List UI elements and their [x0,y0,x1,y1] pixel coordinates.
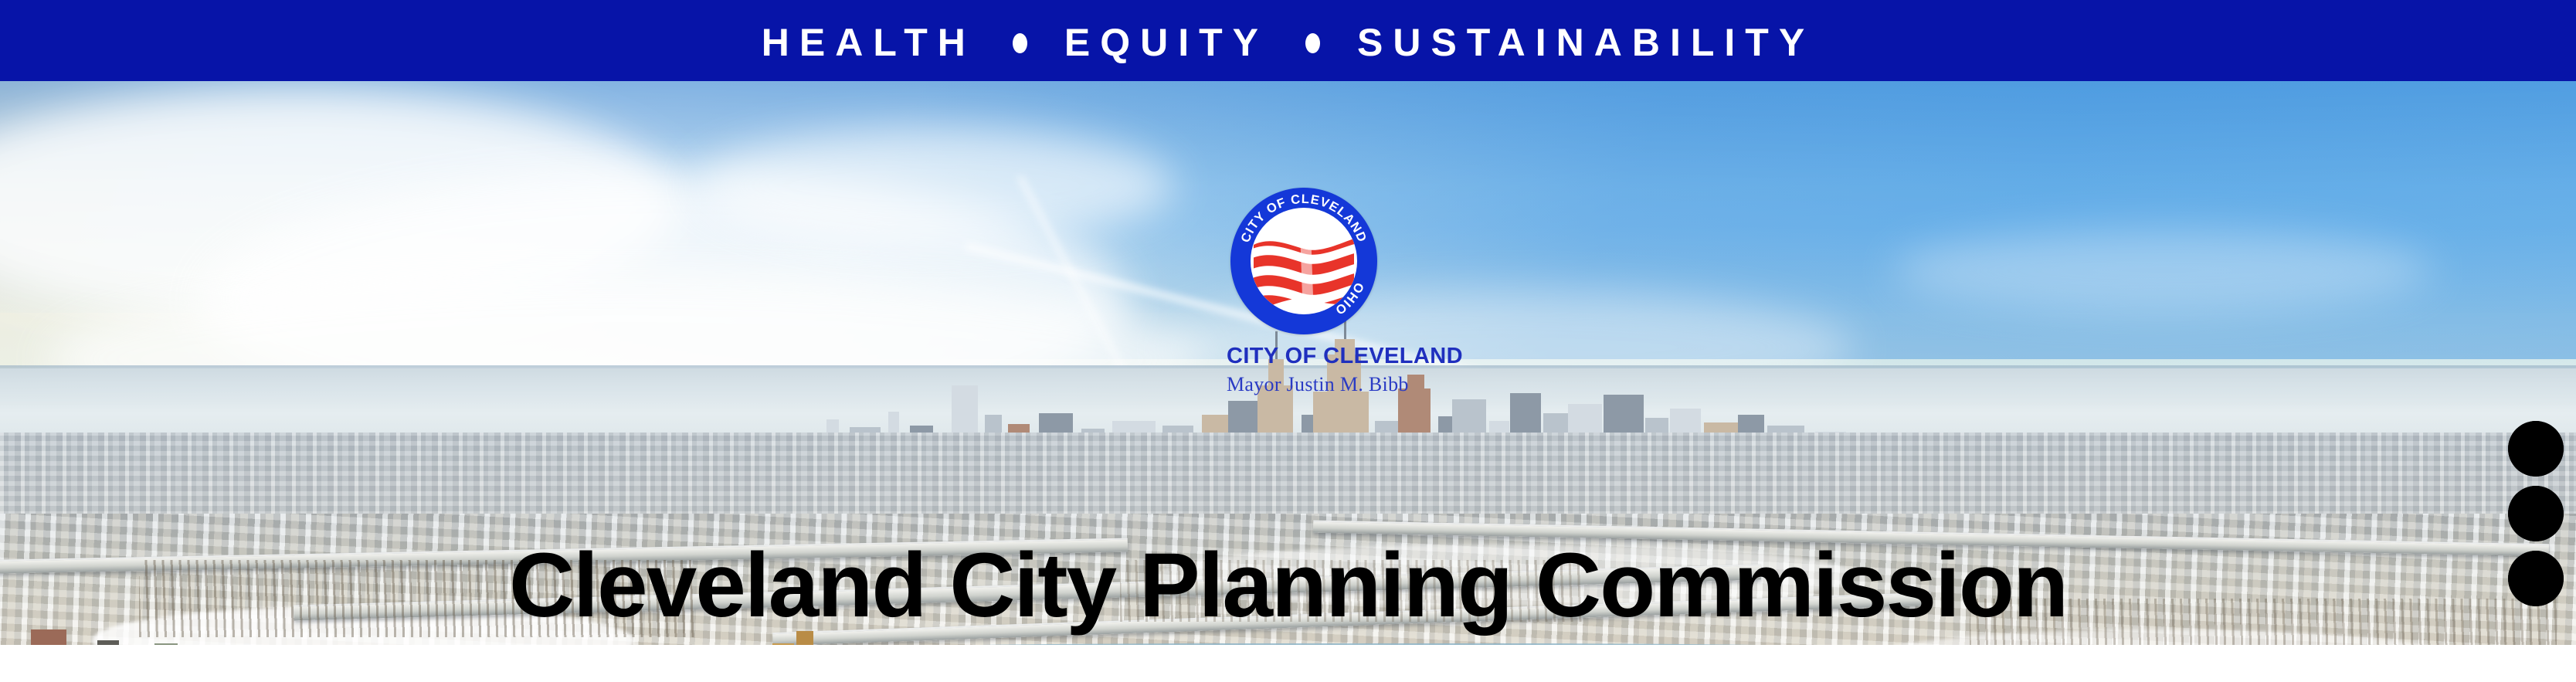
tagline-word-sustainability: SUSTAINABILITY [1352,23,1819,62]
instagram-link[interactable] [2508,486,2564,541]
tagline-word-health: HEALTH [757,23,980,62]
city-of-cleveland-seal-icon: CITY OF CLEVELAND OHIO [1230,188,1377,334]
youtube-icon [2508,421,2564,477]
tagline-word-equity: EQUITY [1060,23,1273,62]
tagline-banner: HEALTH EQUITY SUSTAINABILITY [0,0,2576,81]
footer-strip [0,645,2576,682]
bullet-dot-icon [1013,33,1027,53]
tagline-inner: HEALTH EQUITY SUSTAINABILITY [757,23,1819,62]
bullet-dot-icon [1305,33,1320,53]
facebook-icon [2508,551,2564,606]
organization-name: CITY OF CLEVELAND [1227,345,1381,368]
mayor-name: Mayor Justin M. Bibb [1227,375,1381,395]
page-title: Cleveland City Planning Commission [0,540,2576,631]
page-root: HEALTH EQUITY SUSTAINABILITY [0,0,2576,682]
youtube-link[interactable] [2508,421,2564,477]
seal-inner-disc [1251,208,1357,314]
hero-photo: CITY OF CLEVELAND OHIO CITY OF CLEVELAND… [0,81,2576,645]
american-flag-icon [1251,234,1357,314]
city-seal-block: CITY OF CLEVELAND OHIO CITY OF CLEVELAND… [1227,188,1381,395]
social-links [2500,421,2571,606]
facebook-link[interactable] [2508,551,2564,606]
instagram-icon [2508,486,2564,541]
